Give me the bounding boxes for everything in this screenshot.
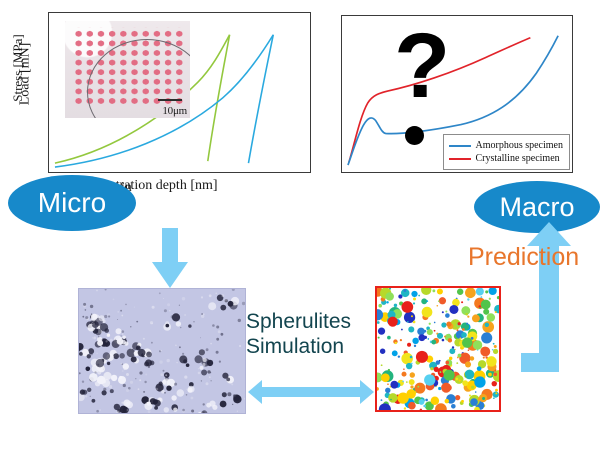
macro-stress-strain-chart: ? Amorphous specimen Crystalline specime… — [341, 15, 573, 173]
micro-load-depth-chart: 10μm — [48, 12, 311, 173]
spherulites-caption-line2: Simulation — [246, 335, 376, 360]
legend-label-amorphous: Amorphous specimen — [476, 140, 564, 151]
polymer-spherulites-micrograph — [78, 288, 246, 414]
spherulites-simulation-result — [375, 286, 501, 412]
macro-chart-y-axis-label: Stress [MPa] — [10, 34, 26, 102]
macro-scale-badge[interactable]: Macro — [474, 181, 600, 233]
simulation-content — [377, 288, 499, 410]
figure-canvas: 10μm Load [mN] Penetration depth [nm] ? … — [0, 0, 600, 450]
question-mark-dot — [405, 126, 424, 145]
arrow-micro-to-sem — [152, 228, 188, 288]
legend-item-amorphous: Amorphous specimen — [449, 139, 564, 152]
prediction-label: Prediction — [468, 243, 579, 272]
legend-swatch-crystalline — [449, 158, 471, 160]
legend-item-crystalline: Crystalline specimen — [449, 152, 564, 165]
micro-scale-badge[interactable]: Micro — [8, 175, 136, 231]
nanoindentation-grid-micrograph: 10μm — [65, 21, 190, 118]
macro-scale-badge-label: Macro — [499, 192, 574, 223]
scale-bar — [158, 99, 182, 101]
macro-chart-legend: Amorphous specimen Crystalline specimen — [443, 134, 571, 170]
spherulites-simulation-caption: Spherulites Simulation — [246, 310, 376, 360]
sem-micrograph-content — [79, 289, 245, 413]
legend-label-crystalline: Crystalline specimen — [476, 153, 560, 164]
arrow-sem-to-simulation — [248, 380, 374, 404]
question-mark-glyph: ? — [394, 20, 450, 112]
scale-bar-label: 10μm — [162, 105, 187, 117]
legend-swatch-amorphous — [449, 145, 471, 147]
micro-scale-badge-label: Micro — [38, 187, 106, 219]
spherulites-caption-line1: Spherulites — [246, 310, 376, 335]
